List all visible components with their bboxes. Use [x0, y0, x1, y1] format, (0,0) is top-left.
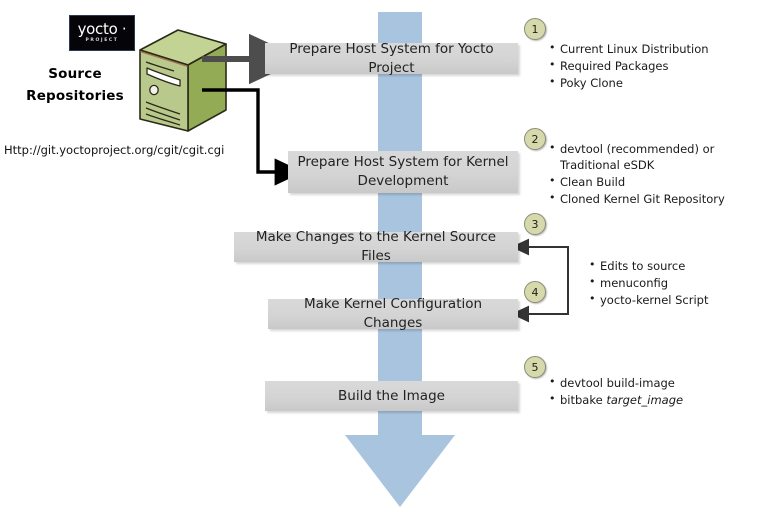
list-item: Cloned Kernel Git Repository — [560, 191, 728, 207]
step-badge-1: 1 — [524, 18, 546, 40]
step-box-5[interactable]: Build the Image — [265, 381, 518, 411]
step-badge-3-number: 3 — [532, 218, 539, 231]
step-box-1[interactable]: Prepare Host System for Yocto Project — [265, 43, 518, 74]
yocto-project-logo: yocto · PROJECT — [69, 15, 135, 51]
step-badge-4: 4 — [524, 281, 546, 303]
step-box-3-label: Make Changes to the Kernel Source Files — [240, 228, 512, 266]
list-item: Clean Build — [560, 174, 728, 190]
diagram-canvas: yocto · PROJECT Source Repositories Http… — [0, 0, 769, 517]
step-box-3[interactable]: Make Changes to the Kernel Source Files — [234, 232, 518, 262]
steps-3-4-shared-notes: Edits to source menuconfig yocto-kernel … — [588, 258, 758, 309]
list-item: yocto-kernel Script — [600, 292, 758, 308]
source-label-line1: Source — [10, 63, 140, 85]
list-item: devtool build-image — [560, 375, 748, 391]
step-box-4[interactable]: Make Kernel Configuration Changes — [268, 299, 518, 329]
source-repositories-label: Source Repositories — [10, 63, 140, 107]
step-box-4-label: Make Kernel Configuration Changes — [274, 295, 512, 333]
step-badge-3: 3 — [524, 213, 546, 235]
step-badge-2-number: 2 — [532, 133, 539, 146]
list-item: Current Linux Distribution — [560, 41, 763, 57]
step-box-2-label: Prepare Host System for Kernel Developme… — [294, 153, 512, 191]
step-5-notes: devtool build-image bitbake target_image — [548, 375, 748, 409]
list-item: Required Packages — [560, 58, 763, 74]
server-tower-icon — [134, 28, 230, 138]
list-item: bitbake target_image — [560, 392, 748, 408]
list-item: menuconfig — [600, 275, 758, 291]
step-1-notes: Current Linux Distribution Required Pack… — [548, 41, 763, 92]
step-badge-5: 5 — [524, 356, 546, 378]
list-item: Edits to source — [600, 258, 758, 274]
step-2-notes: devtool (recommended) or Traditional eSD… — [548, 141, 728, 208]
bitbake-prefix: bitbake — [560, 393, 606, 407]
step-badge-5-number: 5 — [532, 361, 539, 374]
source-label-line2: Repositories — [10, 85, 140, 107]
step-badge-4-number: 4 — [532, 286, 539, 299]
list-item: devtool (recommended) or Traditional eSD… — [560, 141, 728, 173]
bitbake-target-image: target_image — [606, 393, 683, 407]
step-box-2[interactable]: Prepare Host System for Kernel Developme… — [288, 151, 518, 193]
step-box-5-label: Build the Image — [338, 387, 445, 406]
step-badge-1-number: 1 — [532, 23, 539, 36]
step-box-1-label: Prepare Host System for Yocto Project — [271, 40, 512, 78]
logo-wordmark: yocto · — [78, 22, 127, 37]
step-badge-2: 2 — [524, 128, 546, 150]
logo-subtitle: PROJECT — [86, 37, 119, 45]
source-repository-url: Http://git.yoctoproject.org/cgit/cgit.cg… — [4, 143, 224, 157]
list-item: Poky Clone — [560, 75, 763, 91]
